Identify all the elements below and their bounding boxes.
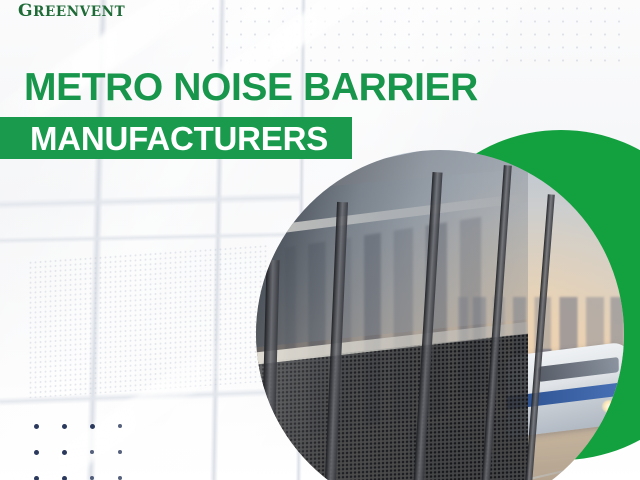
dot [62, 450, 67, 455]
dot [34, 476, 39, 480]
dot [90, 424, 95, 429]
headline-banner-bar: MANUFACTURERS [0, 117, 352, 159]
brand-logo-text: REENVENT [33, 4, 125, 20]
dot [34, 450, 39, 455]
promo-banner: GREENVENT METRO NOISE BARRIER MANUFACTUR… [0, 0, 640, 480]
dot [62, 476, 67, 480]
photo-train-headlamp [602, 400, 617, 413]
brand-logo-initial: G [18, 1, 33, 21]
dot [118, 476, 122, 480]
dot [118, 450, 122, 454]
headline-line-2: MANUFACTURERS [30, 122, 328, 155]
dot-matrix-decoration [34, 424, 146, 480]
headline-line-1: METRO NOISE BARRIER [24, 68, 478, 107]
brand-logo[interactable]: GREENVENT [18, 3, 125, 20]
background-perforation [28, 244, 268, 399]
dot [90, 450, 94, 454]
hero-photo-circle [256, 150, 624, 480]
dot [62, 424, 67, 429]
dot [118, 424, 122, 428]
dot [90, 476, 94, 480]
dot [34, 424, 39, 429]
photo-barrier-glass-panels [256, 165, 528, 349]
